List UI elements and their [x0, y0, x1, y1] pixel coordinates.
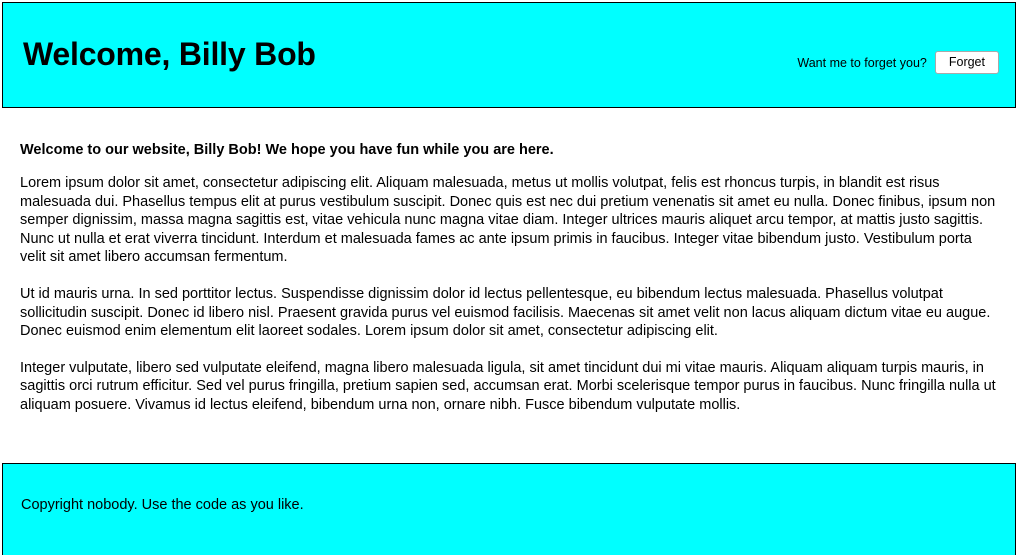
body-paragraph: Ut id mauris urna. In sed porttitor lect… — [20, 285, 996, 341]
site-footer: Copyright nobody. Use the code as you li… — [2, 463, 1016, 555]
forget-button[interactable]: Forget — [935, 51, 999, 74]
main-content: Welcome to our website, Billy Bob! We ho… — [20, 140, 996, 415]
forget-area: Want me to forget you? Forget — [797, 51, 999, 74]
welcome-intro-text: Welcome to our website, Billy Bob! We ho… — [20, 140, 996, 160]
page-root: Welcome, Billy Bob Want me to forget you… — [0, 0, 1024, 550]
body-paragraph: Integer vulputate, libero sed vulputate … — [20, 359, 996, 415]
forget-prompt-label: Want me to forget you? — [797, 55, 926, 71]
body-paragraph: Lorem ipsum dolor sit amet, consectetur … — [20, 174, 996, 267]
page-title: Welcome, Billy Bob — [23, 35, 316, 73]
site-header: Welcome, Billy Bob Want me to forget you… — [2, 2, 1016, 108]
copyright-text: Copyright nobody. Use the code as you li… — [21, 496, 304, 514]
